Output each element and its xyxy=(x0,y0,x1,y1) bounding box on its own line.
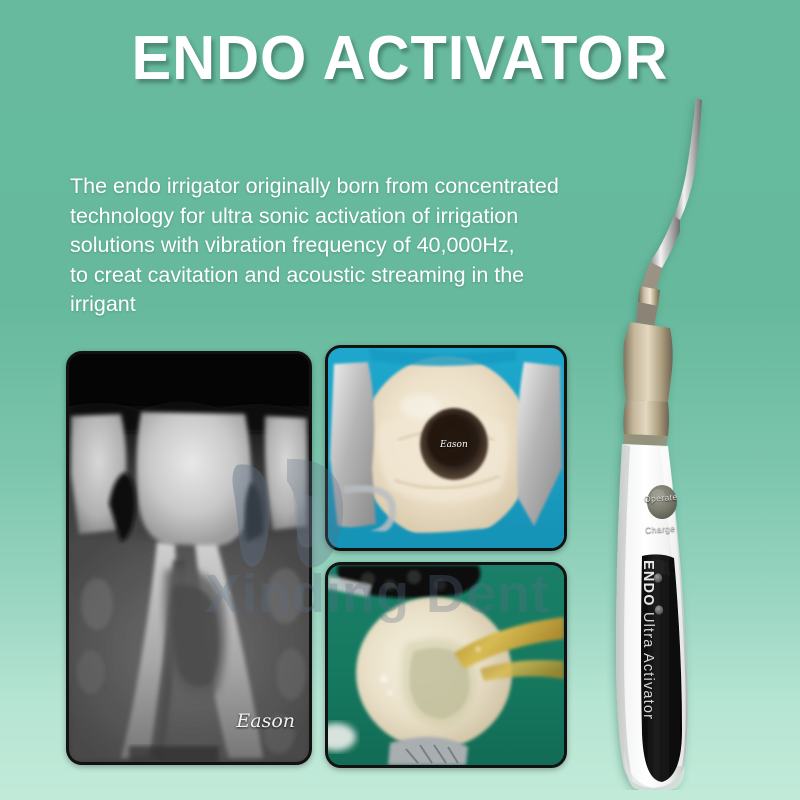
indicator-label-charge: Charge xyxy=(645,523,676,535)
page-title: ENDO ACTIVATOR xyxy=(16,26,784,91)
photo-irrigation xyxy=(325,562,567,768)
description-line: to creat cavitation and acoustic streami… xyxy=(70,261,630,291)
description-line: technology for ultra sonic activation of… xyxy=(70,202,630,232)
device-brand-secondary: Ultra Activator xyxy=(640,612,656,720)
handpiece-illustration xyxy=(600,90,770,790)
description-line: The endo irrigator originally born from … xyxy=(70,172,630,202)
device-handpiece: Operate Charge ENDO Ultra Activator xyxy=(600,90,770,790)
irrigation-image xyxy=(328,565,564,765)
photo-xray: Eason xyxy=(66,351,312,765)
xray-image xyxy=(69,354,309,762)
product-description: The endo irrigator originally born from … xyxy=(70,172,630,320)
product-poster: ENDO ACTIVATOR The endo irrigator origin… xyxy=(0,0,800,800)
device-brand-primary: ENDO xyxy=(640,560,656,607)
photo-signature: Eason xyxy=(236,710,295,732)
photo-signature: Eason xyxy=(440,440,468,450)
description-line: irrigant xyxy=(70,290,630,320)
description-line: solutions with vibration frequency of 40… xyxy=(70,231,630,261)
device-brand-label: ENDO Ultra Activator xyxy=(640,560,656,790)
photo-cavity: Eason xyxy=(325,345,567,551)
